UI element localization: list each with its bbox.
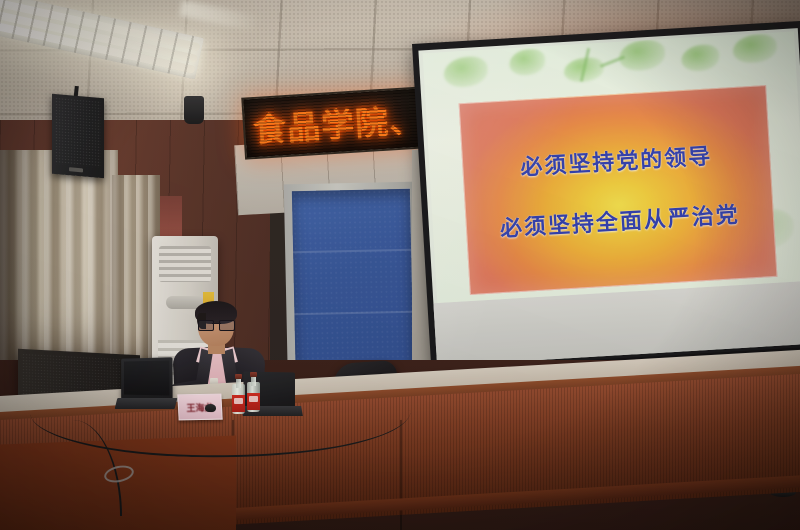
bottle-cap — [250, 372, 257, 377]
projected-slide: 必须坚持党的领导 必须坚持全面从严治党 — [423, 31, 800, 303]
ceiling-speaker — [184, 96, 204, 124]
curtain-shadow — [0, 150, 40, 375]
bottle-cap — [235, 374, 242, 379]
laptop-screen — [124, 360, 169, 395]
conference-hall-photo: 食品学院、 必须坚持党的领导 必须坚持全面从严治党 — [0, 0, 800, 530]
led-sign-text: 食品学院、 — [252, 93, 425, 152]
leaf-decoration-icon — [509, 48, 546, 76]
eyeglasses-icon — [198, 320, 235, 329]
wall-mounted-speaker — [52, 94, 104, 179]
slide-line-2: 必须坚持全面从严治党 — [499, 197, 740, 243]
laptop-lid — [121, 357, 172, 400]
eyeglass-lens-left — [198, 320, 214, 331]
eyeglass-bridge — [212, 323, 221, 324]
ac-vent-louvers — [159, 246, 211, 282]
slide-content-panel: 必须坚持党的领导 必须坚持全面从严治党 — [459, 85, 778, 295]
leaf-decoration-icon — [443, 56, 489, 89]
leaf-decoration-icon — [618, 39, 666, 72]
slide-line-1: 必须坚持党的领导 — [519, 138, 713, 181]
led-marquee-sign: 食品学院、 — [241, 86, 427, 159]
speaker-badge — [69, 167, 83, 172]
desk-panel-seam — [400, 420, 402, 530]
leaf-decoration-icon — [681, 44, 720, 72]
eyeglass-lens-right — [219, 320, 235, 331]
leaf-decoration-icon — [732, 33, 778, 64]
